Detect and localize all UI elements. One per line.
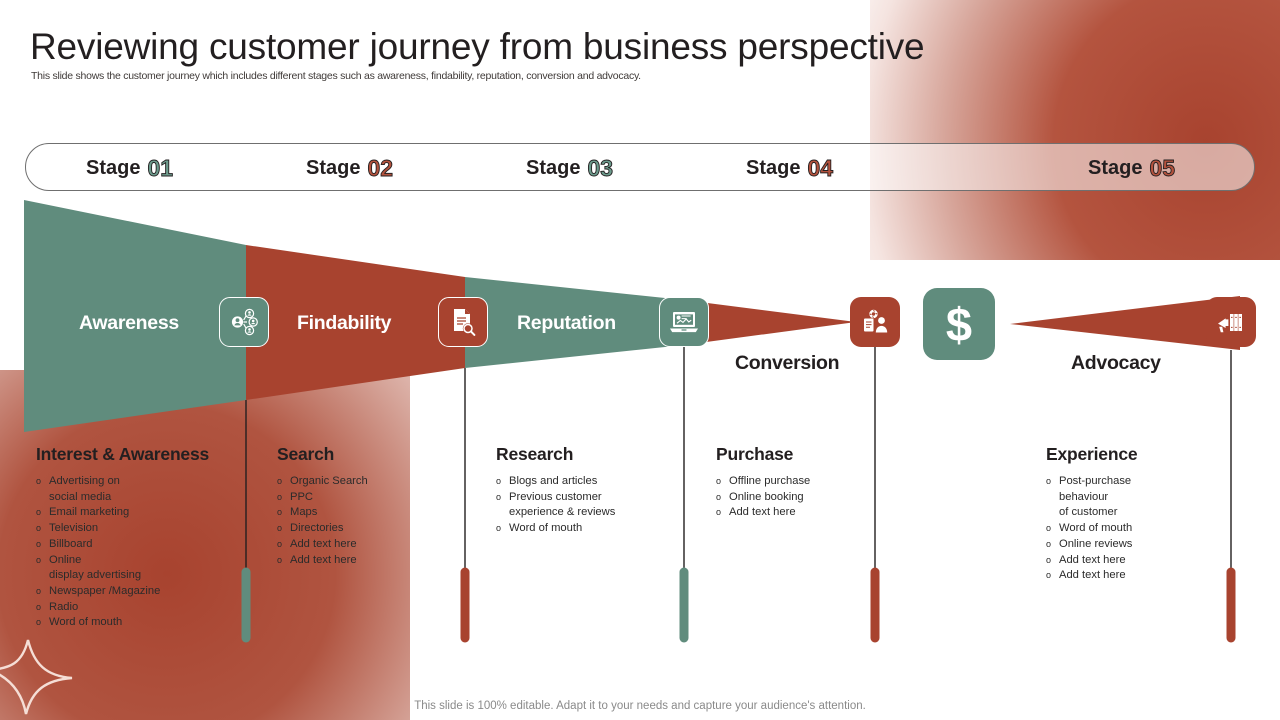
stage-item-02[interactable]: Stage 02 — [306, 144, 393, 192]
dollar-symbol: $ — [946, 301, 972, 348]
funnel-label-advocacy: Advocacy — [1071, 352, 1161, 375]
list-item: oAdd text here — [716, 505, 911, 521]
bullet-marker: o — [1046, 553, 1059, 569]
bullet-text: Offline purchase — [729, 474, 810, 490]
bullet-text: Post-purchase behaviour of customer — [1059, 474, 1131, 521]
bullet-text: Advertising on social media — [49, 474, 120, 505]
list-item: oTelevision — [36, 521, 251, 537]
column-title: Research — [496, 444, 696, 465]
column-title: Interest & Awareness — [36, 444, 251, 465]
bullet-text: Online display advertising — [49, 553, 141, 584]
list-item: oWord of mouth — [496, 521, 696, 537]
stage-label-05: Stage — [1088, 157, 1142, 180]
stage-label-02: Stage — [306, 157, 360, 180]
bullet-marker: o — [36, 521, 49, 537]
column-interest-awareness: Interest & Awareness oAdvertising on soc… — [36, 444, 251, 631]
stage-label-04: Stage — [746, 157, 800, 180]
list-item: oOnline reviews — [1046, 537, 1231, 553]
bullet-list: oPost-purchase behaviour of customer oWo… — [1046, 474, 1231, 584]
bullet-marker: o — [277, 521, 290, 537]
column-search: Search oOrganic Search oPPC oMaps oDirec… — [277, 444, 472, 568]
list-item: oAdvertising on social media — [36, 474, 251, 505]
column-research: Research oBlogs and articles oPrevious c… — [496, 444, 696, 537]
icon-tile-advocacy[interactable] — [1206, 297, 1256, 347]
bullet-marker: o — [1046, 521, 1059, 537]
bullet-marker: o — [36, 537, 49, 553]
background-blob-top-right — [870, 0, 1280, 260]
bullet-list: oBlogs and articles oPrevious customer e… — [496, 474, 696, 537]
stage-number-03: 03 — [587, 155, 613, 182]
funnel-label-awareness: Awareness — [79, 312, 179, 335]
list-item: oOffline purchase — [716, 474, 911, 490]
bullet-text: Directories — [290, 521, 343, 537]
list-item: oWord of mouth — [1046, 521, 1231, 537]
bullet-text: Word of mouth — [509, 521, 582, 537]
funnel-label-conversion: Conversion — [735, 352, 839, 375]
stage-item-01[interactable]: Stage 01 — [86, 144, 173, 192]
list-item: oAdd text here — [1046, 553, 1231, 569]
bullet-marker: o — [496, 490, 509, 506]
bullet-marker: o — [36, 600, 49, 616]
bullet-text: Email marketing — [49, 505, 129, 521]
handshake-deal-icon — [860, 307, 890, 337]
laptop-review-icon — [668, 308, 700, 336]
bullet-text: Add text here — [1059, 568, 1126, 584]
stage-item-05[interactable]: Stage 05 — [1088, 144, 1175, 192]
bullet-text: Add text here — [1059, 553, 1126, 569]
funnel-label-reputation: Reputation — [517, 312, 616, 335]
bullet-text: Add text here — [729, 505, 796, 521]
funnel-label-findability: Findability — [297, 312, 391, 335]
bullet-list: oOffline purchase oOnline booking oAdd t… — [716, 474, 911, 521]
stage-number-05: 05 — [1149, 155, 1175, 182]
bullet-marker: o — [36, 584, 49, 600]
bullet-marker: o — [36, 505, 49, 521]
bullet-text: Add text here — [290, 537, 357, 553]
icon-tile-conversion[interactable] — [850, 297, 900, 347]
bullet-marker: o — [496, 521, 509, 537]
bullet-marker: o — [277, 474, 290, 490]
bullet-text: Maps — [290, 505, 317, 521]
bullet-text: Blogs and articles — [509, 474, 597, 490]
bullet-text: Television — [49, 521, 98, 537]
bullet-marker: o — [1046, 474, 1059, 490]
bullet-text: Newspaper /Magazine — [49, 584, 160, 600]
bullet-text: Online booking — [729, 490, 804, 506]
icon-tile-awareness[interactable] — [219, 297, 269, 347]
icon-tile-reputation[interactable] — [659, 297, 709, 347]
stage-item-03[interactable]: Stage 03 — [526, 144, 613, 192]
list-item: oOrganic Search — [277, 474, 472, 490]
list-item: oMaps — [277, 505, 472, 521]
list-item: oOnline display advertising — [36, 553, 251, 584]
page-subtitle: This slide shows the customer journey wh… — [31, 70, 641, 82]
stage-bar: Stage 01 Stage 02 Stage 03 Stage 04 Stag… — [25, 143, 1255, 191]
column-title: Experience — [1046, 444, 1231, 465]
bullet-marker: o — [277, 490, 290, 506]
list-item: oEmail marketing — [36, 505, 251, 521]
list-item: oAdd text here — [1046, 568, 1231, 584]
list-item: oDirectories — [277, 521, 472, 537]
list-item: oPost-purchase behaviour of customer — [1046, 474, 1231, 521]
bullet-marker: o — [36, 615, 49, 631]
bullet-marker: o — [36, 474, 49, 490]
bullet-marker: o — [716, 490, 729, 506]
stage-number-01: 01 — [147, 155, 173, 182]
list-item: oPPC — [277, 490, 472, 506]
bullet-text: PPC — [290, 490, 313, 506]
bullet-marker: o — [1046, 537, 1059, 553]
bullet-text: Billboard — [49, 537, 93, 553]
column-title: Search — [277, 444, 472, 465]
bullet-text: Word of mouth — [1059, 521, 1132, 537]
list-item: oBillboard — [36, 537, 251, 553]
icon-tile-findability[interactable] — [438, 297, 488, 347]
bullet-marker: o — [36, 553, 49, 569]
stage-number-04: 04 — [807, 155, 833, 182]
list-item: oBlogs and articles — [496, 474, 696, 490]
bullet-marker: o — [716, 505, 729, 521]
bullet-text: Radio — [49, 600, 78, 616]
bullet-marker: o — [1046, 568, 1059, 584]
list-item: oNewspaper /Magazine — [36, 584, 251, 600]
bullet-marker: o — [496, 474, 509, 490]
bullet-list: oOrganic Search oPPC oMaps oDirectories … — [277, 474, 472, 568]
list-item: oAdd text here — [277, 537, 472, 553]
megaphone-books-icon — [1216, 309, 1246, 335]
stage-label-03: Stage — [526, 157, 580, 180]
list-item: oOnline booking — [716, 490, 911, 506]
footer-note: This slide is 100% editable. Adapt it to… — [0, 700, 1280, 712]
column-experience: Experience oPost-purchase behaviour of c… — [1046, 444, 1231, 584]
bullet-text: Organic Search — [290, 474, 368, 490]
bullet-text: Word of mouth — [49, 615, 122, 631]
list-item: oWord of mouth — [36, 615, 251, 631]
bullet-text: Online reviews — [1059, 537, 1132, 553]
bullet-marker: o — [277, 553, 290, 569]
stage-item-04[interactable]: Stage 04 — [746, 144, 833, 192]
people-network-icon — [229, 307, 259, 337]
dollar-badge[interactable]: $ — [923, 288, 995, 360]
column-title: Purchase — [716, 444, 911, 465]
column-purchase: Purchase oOffline purchase oOnline booki… — [716, 444, 911, 521]
document-search-icon — [449, 307, 477, 337]
stage-label-01: Stage — [86, 157, 140, 180]
bullet-marker: o — [277, 537, 290, 553]
list-item: oRadio — [36, 600, 251, 616]
slide-canvas: Reviewing customer journey from business… — [0, 0, 1280, 720]
funnel-segment-conversion — [684, 300, 856, 345]
bullet-text: Previous customer experience & reviews — [509, 490, 615, 521]
list-item: oAdd text here — [277, 553, 472, 569]
bullet-marker: o — [277, 505, 290, 521]
page-title: Reviewing customer journey from business… — [30, 26, 924, 68]
bullet-text: Add text here — [290, 553, 357, 569]
bullet-marker: o — [716, 474, 729, 490]
stage-number-02: 02 — [367, 155, 393, 182]
list-item: oPrevious customer experience & reviews — [496, 490, 696, 521]
bullet-list: oAdvertising on social media oEmail mark… — [36, 474, 251, 631]
